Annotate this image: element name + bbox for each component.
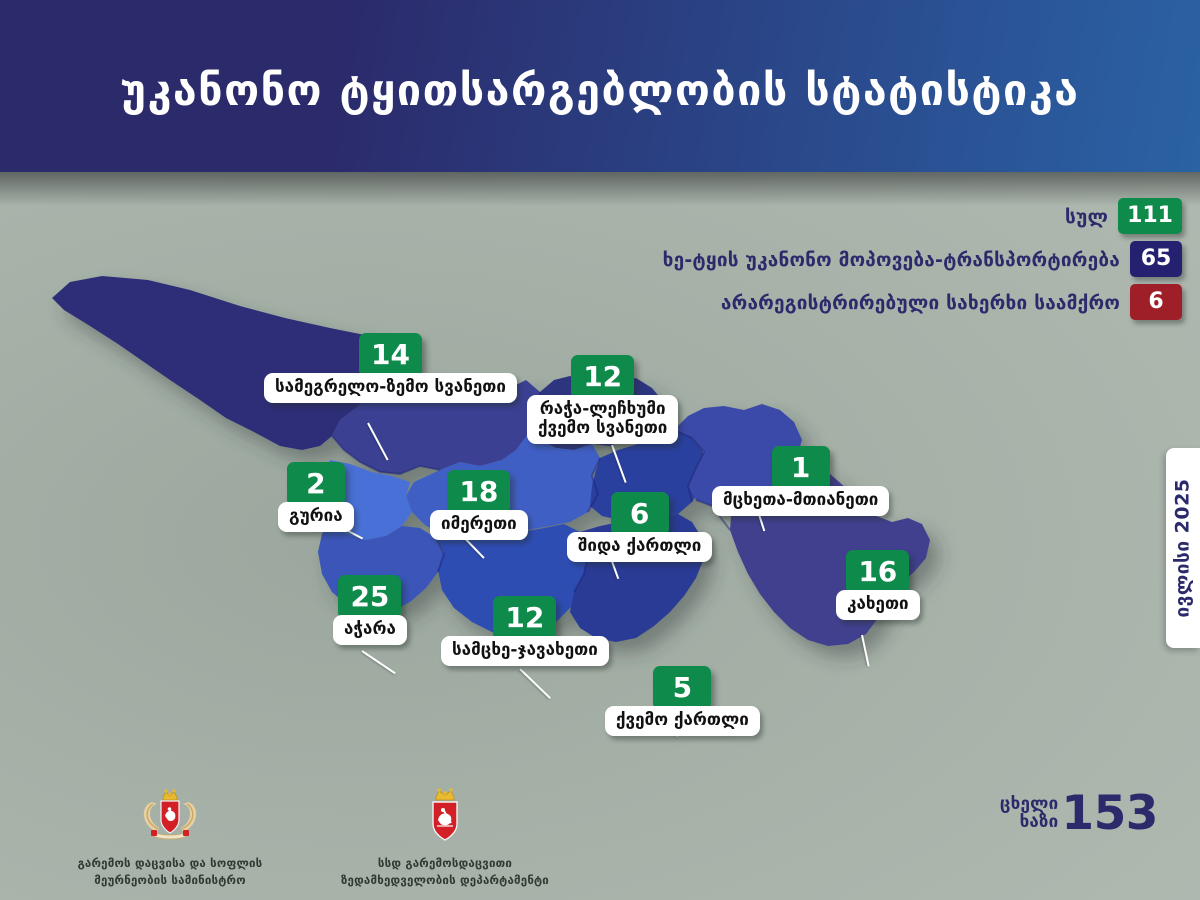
date-tab-label: ივლისი 2025 <box>1172 478 1194 617</box>
callout-kvemokartli[interactable]: 5 ქვემო ქართლი <box>605 666 760 736</box>
footer-department-caption: სსდ გარემოსდაცვითი ზედამხედველობის დეპარ… <box>341 855 549 888</box>
footer-ministry: გარემოს დაცვისა და სოფლის მეურნეობის სამ… <box>20 786 320 888</box>
callout-name-samtskhe: სამცხე-ჯავახეთი <box>441 636 609 666</box>
legend-badge-total: 111 <box>1118 198 1182 234</box>
footer-department: სსდ გარემოსდაცვითი ზედამხედველობის დეპარ… <box>295 786 595 888</box>
callout-name-adjara: აჭარა <box>333 615 407 645</box>
header-banner: უკანონო ტყითსარგებლობის სტატისტიკა <box>0 0 1200 172</box>
callout-badge-shidakartli: 6 <box>611 492 669 536</box>
georgia-coat-of-arms-icon <box>139 786 201 848</box>
callout-shidakartli[interactable]: 6 შიდა ქართლი <box>567 492 712 562</box>
legend-row-sawmill: არარეგისტრირებული სახერხი საამქრო 6 <box>721 284 1182 320</box>
legend-label-total: სულ <box>1065 205 1108 227</box>
callout-kakheti[interactable]: 16 კახეთი <box>836 550 920 620</box>
legend-row-total: სულ 111 <box>1065 198 1182 234</box>
callout-badge-samegrelo: 14 <box>359 333 422 377</box>
date-tab: ივლისი 2025 <box>1166 448 1200 648</box>
callout-name-kakheti: კახეთი <box>836 590 920 620</box>
legend-label-timber: ხე-ტყის უკანონო მოპოვება-ტრანსპორტირება <box>663 248 1120 270</box>
callout-imereti[interactable]: 18 იმერეთი <box>430 470 528 540</box>
hotline-words: ცხელი ხაზი <box>1000 796 1059 831</box>
legend-badge-timber: 65 <box>1130 241 1182 277</box>
callout-badge-racha: 12 <box>571 355 634 399</box>
callout-badge-kakheti: 16 <box>846 550 909 594</box>
callout-name-samegrelo: სამეგრელო-ზემო სვანეთი <box>264 373 517 403</box>
hotline-number: 153 <box>1061 793 1158 834</box>
callout-guria[interactable]: 2 გურია <box>278 462 354 532</box>
infographic-page: უკანონო ტყითსარგებლობის სტატისტიკა სულ 1… <box>0 0 1200 900</box>
callout-name-racha: რაჭა-ლეჩხუმი ქვემო სვანეთი <box>527 395 678 444</box>
callout-badge-guria: 2 <box>287 462 345 506</box>
footer-ministry-caption: გარემოს დაცვისა და სოფლის მეურნეობის სამ… <box>78 855 263 888</box>
callout-badge-samtskhe: 12 <box>493 596 556 640</box>
legend-badge-sawmill: 6 <box>1130 284 1182 320</box>
callout-badge-mtskheta: 1 <box>772 446 830 490</box>
department-emblem-icon <box>423 786 467 848</box>
legend-label-sawmill: არარეგისტრირებული სახერხი საამქრო <box>721 291 1120 313</box>
callout-samegrelo[interactable]: 14 სამეგრელო-ზემო სვანეთი <box>264 333 517 403</box>
callout-badge-imereti: 18 <box>447 470 510 514</box>
page-title: უკანონო ტყითსარგებლობის სტატისტიკა <box>121 60 1080 113</box>
callout-badge-kvemokartli: 5 <box>653 666 711 710</box>
callout-name-mtskheta: მცხეთა-მთიანეთი <box>712 486 889 516</box>
callout-name-guria: გურია <box>278 502 354 532</box>
callout-name-imereti: იმერეთი <box>430 510 528 540</box>
callout-racha[interactable]: 12 რაჭა-ლეჩხუმი ქვემო სვანეთი <box>527 355 678 444</box>
hotline-line2: ხაზი <box>1020 814 1059 832</box>
callout-name-shidakartli: შიდა ქართლი <box>567 532 712 562</box>
legend-row-timber: ხე-ტყის უკანონო მოპოვება-ტრანსპორტირება … <box>663 241 1182 277</box>
legend: სულ 111 ხე-ტყის უკანონო მოპოვება-ტრანსპო… <box>663 198 1182 320</box>
callout-samtskhe[interactable]: 12 სამცხე-ჯავახეთი <box>441 596 609 666</box>
hotline: ცხელი ხაზი 153 <box>1000 793 1158 834</box>
callout-badge-adjara: 25 <box>338 575 401 619</box>
callout-name-kvemokartli: ქვემო ქართლი <box>605 706 760 736</box>
callout-adjara[interactable]: 25 აჭარა <box>333 575 407 645</box>
callout-mtskheta[interactable]: 1 მცხეთა-მთიანეთი <box>712 446 889 516</box>
